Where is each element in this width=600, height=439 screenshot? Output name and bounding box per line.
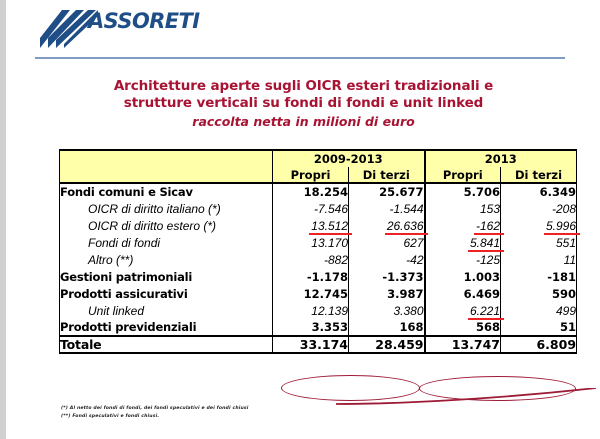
row-value: 13.170 (273, 234, 349, 251)
annotation-ellipse-right (419, 376, 576, 401)
row-value: -181 (501, 268, 577, 285)
value-text: -162 (476, 219, 500, 233)
title-line-1: Architetture aperte sugli OICR esteri tr… (46, 78, 561, 95)
row-value: 3.353 (273, 319, 349, 336)
row-value: 168 (349, 319, 425, 336)
value-text: 26.636 (387, 219, 424, 233)
table-row: Altro (**)-882-42-12511 (60, 251, 577, 268)
value-text: 627 (403, 236, 423, 250)
table-group-header-row: 2009-2013 2013 (60, 150, 577, 167)
value-text: -42 (406, 253, 423, 267)
slide-canvas: ASSORETI Architetture aperte sugli OICR … (6, 0, 600, 439)
sub-header-diterzi-2009: Di terzi (349, 167, 425, 183)
value-text: 13.747 (452, 337, 500, 352)
row-label: Fondi comuni e Sicav (60, 183, 273, 200)
row-value: 51 (501, 319, 577, 336)
row-value: 3.380 (349, 302, 425, 319)
table-row: Prodotti assicurativi12.7453.9876.469590 (60, 285, 577, 302)
table-row: Prodotti previdenziali3.35316856851 (60, 319, 577, 336)
row-value: 551 (501, 234, 577, 251)
row-label: OICR di diritto italiano (*) (60, 200, 273, 217)
value-text: 13.512 (311, 219, 348, 233)
value-text: 6.809 (536, 337, 576, 352)
table-sub-header-row: Propri Di terzi Propri Di terzi (60, 167, 577, 183)
value-text: -208 (552, 202, 576, 216)
row-value: -162 (425, 217, 501, 234)
row-value: -882 (273, 251, 349, 268)
value-text: 18.254 (304, 185, 348, 199)
sub-header-diterzi-2013: Di terzi (501, 167, 577, 183)
title-subtitle: raccolta netta in milioni di euro (46, 113, 561, 130)
row-value: 13.512 (273, 217, 349, 234)
value-text: 12.745 (304, 287, 348, 301)
value-text: 168 (400, 320, 424, 334)
table-row: Gestioni patrimoniali-1.178-1.3731.003-1… (60, 268, 577, 285)
row-value: 3.987 (349, 285, 425, 302)
value-text: 6.349 (540, 185, 576, 199)
value-text: 12.139 (311, 304, 348, 318)
value-text: -1.373 (382, 270, 423, 284)
value-text: 153 (480, 202, 500, 216)
total-value: 13.747 (425, 336, 501, 353)
table-corner-cell (60, 150, 273, 167)
value-text: 33.174 (300, 337, 348, 352)
sub-header-propri-2013: Propri (425, 167, 501, 183)
data-table-container: 2009-2013 2013 Propri Di terzi Propri Di… (59, 149, 576, 397)
total-value: 33.174 (273, 336, 349, 353)
total-value: 28.459 (349, 336, 425, 353)
value-text: -1.178 (307, 270, 348, 284)
row-value: 5.841 (425, 234, 501, 251)
value-text: -7.546 (314, 202, 348, 216)
row-value: -7.546 (273, 200, 349, 217)
total-value: 6.809 (501, 336, 577, 353)
value-text: 28.459 (375, 337, 423, 352)
value-text: 5.841 (470, 236, 500, 250)
value-text: 1.003 (464, 270, 500, 284)
logo-wordmark: ASSORETI (88, 9, 199, 33)
value-text: 551 (556, 236, 576, 250)
row-value: 6.349 (501, 183, 577, 200)
sub-header-propri-2009: Propri (273, 167, 349, 183)
table-row: OICR di diritto estero (*)13.51226.636-1… (60, 217, 577, 234)
footnote-1: (*) Al netto dei fondi di fondi, dei fon… (61, 405, 461, 413)
row-value: 11 (501, 251, 577, 268)
value-text: 3.380 (393, 304, 423, 318)
value-text: -181 (547, 270, 576, 284)
table-row: Fondi comuni e Sicav18.25425.6775.7066.3… (60, 183, 577, 200)
row-value: 5.996 (501, 217, 577, 234)
total-label: Totale (60, 336, 273, 353)
row-value: -125 (425, 251, 501, 268)
row-value: 6.221 (425, 302, 501, 319)
row-value: 6.469 (425, 285, 501, 302)
title-line-2: strutture verticali su fondi di fondi e … (46, 95, 561, 112)
row-value: -1.178 (273, 268, 349, 285)
row-label: Unit linked (60, 302, 273, 319)
value-text: 51 (560, 320, 576, 334)
row-label: Prodotti assicurativi (60, 285, 273, 302)
value-text: 6.221 (470, 304, 500, 318)
value-text: 5.706 (464, 185, 500, 199)
value-text: 6.469 (464, 287, 500, 301)
row-value: 568 (425, 319, 501, 336)
row-value: 627 (349, 234, 425, 251)
row-value: -1.373 (349, 268, 425, 285)
row-value: 18.254 (273, 183, 349, 200)
row-value: 12.139 (273, 302, 349, 319)
footnotes-block: (*) Al netto dei fondi di fondi, dei fon… (61, 405, 461, 420)
row-label: Fondi di fondi (60, 234, 273, 251)
value-text: -125 (476, 253, 500, 267)
row-value: -42 (349, 251, 425, 268)
row-label: Gestioni patrimoniali (60, 268, 273, 285)
value-text: 499 (556, 304, 576, 318)
value-text: 3.987 (387, 287, 423, 301)
row-value: 153 (425, 200, 501, 217)
row-value: -1.544 (349, 200, 425, 217)
row-label: Altro (**) (60, 251, 273, 268)
table-row: Fondi di fondi13.1706275.841551 (60, 234, 577, 251)
assoreti-logo: ASSORETI (36, 4, 226, 50)
table-row: OICR di diritto italiano (*)-7.546-1.544… (60, 200, 577, 217)
value-text: -1.544 (389, 202, 423, 216)
row-value: 499 (501, 302, 577, 319)
row-value: 5.706 (425, 183, 501, 200)
slide-title-block: Architetture aperte sugli OICR esteri tr… (46, 78, 561, 130)
value-text: 13.170 (311, 236, 348, 250)
table-total-row: Totale33.17428.45913.7476.809 (60, 336, 577, 353)
slide-header: ASSORETI (6, 0, 600, 62)
value-text: 3.353 (312, 320, 348, 334)
financial-data-table: 2009-2013 2013 Propri Di terzi Propri Di… (59, 149, 577, 354)
row-label: OICR di diritto estero (*) (60, 217, 273, 234)
row-value: 12.745 (273, 285, 349, 302)
group-header-2013: 2013 (425, 150, 577, 167)
value-text: 25.677 (379, 185, 423, 199)
table-body: Fondi comuni e Sicav18.25425.6775.7066.3… (60, 183, 577, 353)
row-value: 590 (501, 285, 577, 302)
footnote-2: (**) Fondi speculativi e fondi chiusi. (61, 413, 461, 421)
table-corner-cell-2 (60, 167, 273, 183)
row-value: 26.636 (349, 217, 425, 234)
value-text: -882 (324, 253, 348, 267)
row-value: -208 (501, 200, 577, 217)
annotation-ellipse-left (281, 375, 420, 401)
group-header-2009-2013: 2009-2013 (273, 150, 425, 167)
value-text: 568 (476, 320, 500, 334)
row-value: 1.003 (425, 268, 501, 285)
value-text: 590 (552, 287, 576, 301)
value-text: 11 (564, 253, 576, 267)
header-divider-rule (35, 57, 565, 59)
row-label: Prodotti previdenziali (60, 319, 273, 336)
table-row: Unit linked12.1393.3806.221499 (60, 302, 577, 319)
value-text: 5.996 (546, 219, 576, 233)
row-value: 25.677 (349, 183, 425, 200)
